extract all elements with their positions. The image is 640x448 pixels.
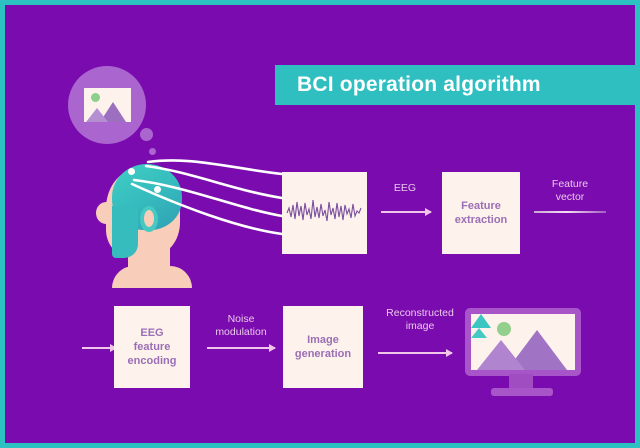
page-title: BCI operation algorithm	[275, 73, 541, 97]
connector-label-noise-modulation: Noisemodulation	[200, 313, 282, 339]
mountain-shape-front	[477, 340, 525, 370]
mountain-tip-back	[471, 314, 491, 328]
monitor-screen	[471, 314, 575, 370]
box-eeg-feature-encoding-label: EEGfeatureencoding	[128, 326, 177, 368]
monitor-bezel	[465, 308, 581, 376]
arrow-wrap-in	[82, 347, 116, 349]
box-image-generation-label: Imagegeneration	[295, 333, 351, 361]
eeg-cables	[120, 150, 295, 260]
box-image-generation: Imagegeneration	[283, 306, 363, 388]
thought-bubble	[68, 66, 146, 144]
eeg-cable-3	[134, 180, 282, 216]
computer-monitor	[465, 308, 587, 398]
picture-icon	[84, 88, 131, 122]
thought-bubble-dot-large	[140, 128, 153, 141]
eeg-waveform	[282, 172, 367, 254]
mountain-tip-front	[471, 328, 487, 338]
eeg-cable-4	[132, 184, 282, 234]
box-eeg-feature-encoding: EEGfeatureencoding	[114, 306, 190, 388]
diagram-canvas: BCI operation algorithm	[10, 10, 640, 448]
monitor-base	[491, 388, 553, 396]
connector-label-feature-vector: Featurevector	[528, 178, 612, 204]
head-shoulder	[112, 266, 192, 288]
title-banner: BCI operation algorithm	[275, 65, 640, 105]
diagram-frame: BCI operation algorithm	[0, 0, 640, 448]
connector-line-feature-vector	[534, 211, 606, 213]
arrow-reconstructed-image	[378, 352, 452, 354]
sun-shape	[91, 93, 100, 102]
arrow-eeg	[381, 211, 431, 213]
connector-label-eeg: EEG	[376, 182, 434, 195]
box-feature-extraction: Featureextraction	[442, 172, 520, 254]
eeg-cable-1	[148, 160, 282, 174]
arrow-noise-modulation	[207, 347, 275, 349]
box-feature-extraction-label: Featureextraction	[455, 199, 508, 227]
mountain-shape-front	[86, 108, 108, 122]
connector-label-reconstructed-image: Reconstructedimage	[372, 307, 468, 333]
